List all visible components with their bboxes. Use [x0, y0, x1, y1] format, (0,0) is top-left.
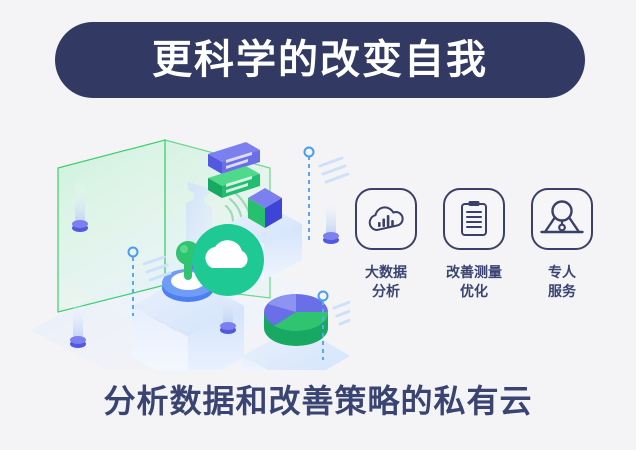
feature-item-dedicated-service[interactable]: 专人 服务 — [524, 188, 600, 301]
cloud-bar-chart-icon-box — [355, 188, 417, 250]
feature-item-big-data-analysis[interactable]: 大数据 分析 — [348, 188, 424, 301]
feature-label-line2: 服务 — [548, 282, 576, 301]
feature-label-line1: 大数据 — [365, 263, 407, 282]
feature-label-line2: 优化 — [446, 282, 502, 301]
clipboard-icon — [458, 200, 490, 238]
feature-list: 大数据 分析 改善测量 优化 — [348, 188, 600, 301]
feature-label-big-data-analysis: 大数据 分析 — [365, 263, 407, 301]
feature-item-measurement-optimization[interactable]: 改善测量 优化 — [436, 188, 512, 301]
poster-canvas: 更科学的改变自我 — [0, 0, 636, 450]
tagline: 分析数据和改善策略的私有云 — [0, 385, 636, 417]
cloud-bar-chart-icon — [366, 203, 406, 235]
feature-label-line1: 改善测量 — [446, 263, 502, 282]
clipboard-icon-box — [443, 188, 505, 250]
feature-label-measurement-optimization: 改善测量 优化 — [446, 263, 502, 301]
feature-label-line2: 分析 — [365, 282, 407, 301]
feature-label-dedicated-service: 专人 服务 — [548, 263, 576, 301]
pie-chart-3d — [264, 294, 328, 346]
service-person-icon-box — [531, 188, 593, 250]
feature-label-line1: 专人 — [548, 263, 576, 282]
gradient-pin — [323, 192, 339, 244]
service-person-icon — [540, 199, 584, 239]
header-banner: 更科学的改变自我 — [55, 22, 585, 98]
page-title: 更科学的改变自我 — [152, 40, 488, 80]
isometric-illustration — [20, 120, 350, 370]
